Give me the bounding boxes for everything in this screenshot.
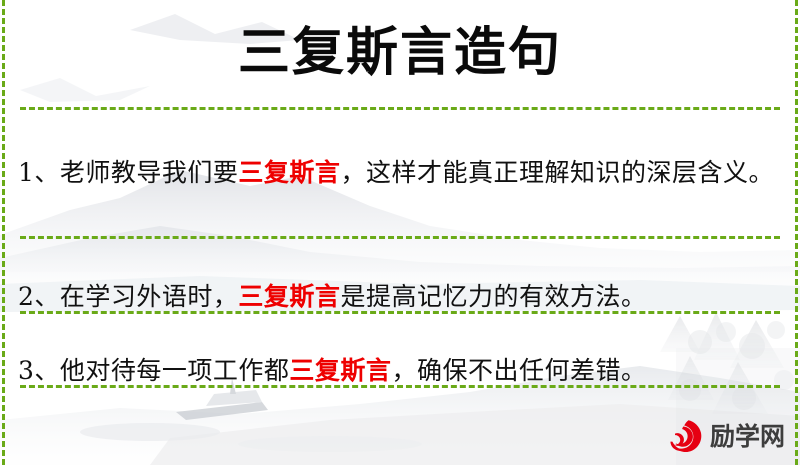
sentence-1-text-after: ，这样才能真正理解知识的深层含义。 — [340, 158, 774, 187]
separator-below-title — [20, 107, 780, 110]
site-watermark-logo: 励学网 — [666, 415, 788, 459]
watermark-brand-name: 励学网 — [710, 423, 785, 451]
sentence-2-keyword: 三复斯言 — [238, 282, 340, 311]
sentence-1-text-before: 老师教导我们要 — [60, 158, 239, 187]
sentence-1-keyword: 三复斯言 — [238, 158, 340, 187]
sentence-3-text-after: ，确保不出任何差错。 — [391, 356, 646, 385]
sentence-2-text-before: 在学习外语时， — [60, 282, 239, 311]
page-title: 三复斯言造句 — [0, 22, 800, 84]
example-sentence-1: 1、老师教导我们要三复斯言，这样才能真正理解知识的深层含义。 — [18, 153, 784, 193]
page-root: 三复斯言造句 1、老师教导我们要三复斯言，这样才能真正理解知识的深层含义。 2、… — [0, 0, 800, 465]
separator-after-sentence-1 — [20, 236, 780, 239]
sentence-3-keyword: 三复斯言 — [289, 356, 391, 385]
sentence-1-index: 1、 — [18, 158, 60, 187]
sentence-2-index: 2、 — [18, 282, 60, 311]
sentence-3-index: 3、 — [18, 356, 60, 385]
sentence-2-text-after: 是提高记忆力的有效方法。 — [340, 282, 646, 311]
example-sentence-2: 2、在学习外语时，三复斯言是提高记忆力的有效方法。 — [18, 277, 784, 317]
example-sentence-3: 3、他对待每一项工作都三复斯言，确保不出任何差错。 — [18, 351, 784, 391]
flame-swirl-icon — [666, 417, 706, 457]
sentence-3-text-before: 他对待每一项工作都 — [60, 356, 290, 385]
